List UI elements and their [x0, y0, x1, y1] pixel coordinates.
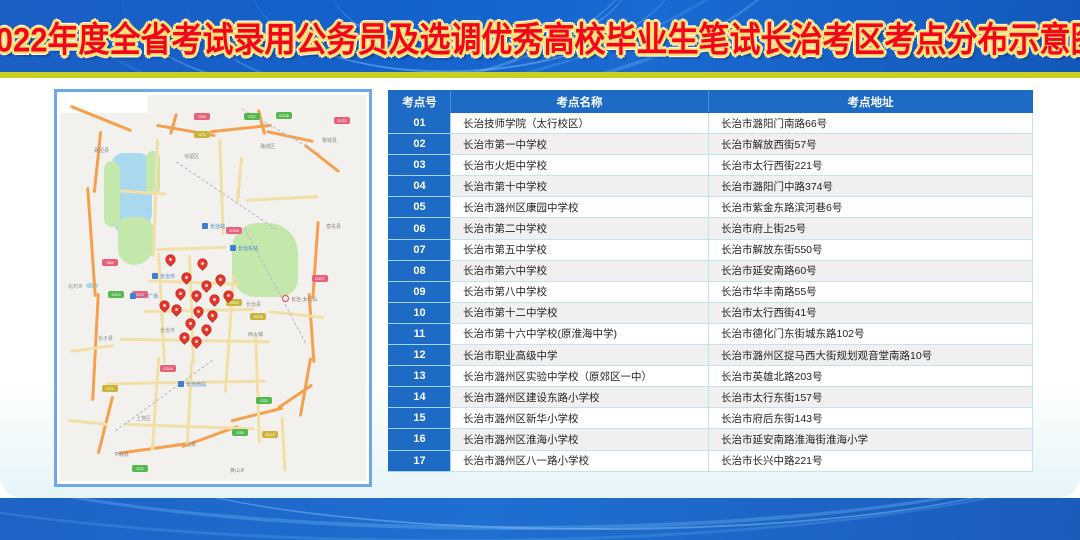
- cell-name: 长治市第十中学校: [451, 176, 709, 197]
- table-row[interactable]: 17长治市潞州区八一路小学校长治市长兴中路221号: [389, 450, 1033, 471]
- map-road: [218, 139, 224, 235]
- table-row[interactable]: 09长治市第八中学校长治市华丰南路55号: [389, 281, 1033, 302]
- map-place-label: 长治县: [246, 301, 261, 308]
- map-marker-pin[interactable]: [196, 257, 209, 270]
- map-marker-pin[interactable]: [208, 293, 221, 306]
- map-road: [156, 246, 226, 251]
- cell-addr: 长治市英雄北路203号: [709, 366, 1033, 387]
- column-header-no: 考点号: [389, 91, 451, 113]
- map-poi-label[interactable]: 长治市: [152, 273, 175, 280]
- map-road: [236, 157, 242, 203]
- table-row[interactable]: 06长治市第二中学校长治市府上街25号: [389, 218, 1033, 239]
- table-body: 01长治技师学院（太行校区）长治市潞阳门南路66号 02长治市第一中学校长治市解…: [389, 113, 1033, 472]
- map-road-shield: G55: [194, 113, 210, 120]
- table-row[interactable]: 05长治市潞州区康园中学校长治市紫金东路滨河巷6号: [389, 197, 1033, 218]
- cell-no: 02: [389, 134, 451, 155]
- table-row[interactable]: 12长治市职业高级中学长治市潞州区捉马西大街规划观音堂南路10号: [389, 345, 1033, 366]
- cell-addr: 长治市府上街25号: [709, 218, 1033, 239]
- map-road-shield: G22: [256, 397, 272, 404]
- cell-addr: 长治市太行西街41号: [709, 302, 1033, 323]
- cell-name: 长治市第五中学校: [451, 239, 709, 260]
- cell-name: 长治市潞州区八一路小学校: [451, 450, 709, 471]
- map-marker-pin[interactable]: [200, 323, 213, 336]
- cell-name: 长治技师学院（太行校区）: [451, 113, 709, 134]
- cell-no: 09: [389, 281, 451, 302]
- cell-no: 05: [389, 197, 451, 218]
- map-railway: [176, 162, 276, 230]
- map-road: [268, 310, 324, 318]
- cell-no: 15: [389, 408, 451, 429]
- cell-addr: 长治市潞州区捉马西大街规划观音堂南路10号: [709, 345, 1033, 366]
- table-row[interactable]: 07长治市第五中学校长治市解放东街550号: [389, 239, 1033, 260]
- table-row[interactable]: 10长治市第十二中学校长治市太行西街41号: [389, 302, 1033, 323]
- exam-site-table: 考点号 考点名称 考点地址 01长治技师学院（太行校区）长治市潞阳门南路66号 …: [388, 90, 1032, 472]
- map-road-shield: G208: [276, 112, 292, 119]
- cell-addr: 长治市太行东街157号: [709, 387, 1033, 408]
- map-place-label: 壶关县: [326, 223, 341, 230]
- cell-name: 长治市潞州区新华小学校: [451, 408, 709, 429]
- cell-addr: 长治市紫金东路滨河巷6号: [709, 197, 1033, 218]
- cell-addr: 长治市长兴中路221号: [709, 450, 1033, 471]
- table-row[interactable]: 03长治市火炬中学校长治市太行西街221号: [389, 155, 1033, 176]
- map-marker-pin[interactable]: [174, 287, 187, 300]
- map-poi-station[interactable]: 长治站: [202, 223, 225, 230]
- map-road-shield: G309: [226, 227, 242, 234]
- map-road: [246, 195, 318, 201]
- cell-no: 12: [389, 345, 451, 366]
- cell-name: 长治市第八中学校: [451, 281, 709, 302]
- map-road-shield: S86: [102, 259, 118, 266]
- cell-no: 17: [389, 450, 451, 471]
- cell-addr: 长治市潞阳门中路374号: [709, 176, 1033, 197]
- cell-no: 11: [389, 323, 451, 344]
- page-title: 2022年度全省考试录用公务员及选调优秀高校毕业生笔试长治考区考点分布示意图: [0, 0, 1080, 72]
- map-poi-scenic[interactable]: 长治 太行山: [282, 295, 317, 303]
- table-header-row: 考点号 考点名称 考点地址: [389, 91, 1033, 113]
- map-frame: G55 S76 G22 G208 S222 G309 S86 G207 S324…: [54, 89, 372, 487]
- table-row[interactable]: 02长治市第一中学校长治市解放西街57号: [389, 134, 1033, 155]
- cell-addr: 长治市太行西街221号: [709, 155, 1033, 176]
- map-road: [148, 279, 240, 285]
- table-row[interactable]: 11长治市第十六中学校(原淮海中学)长治市德化门东街城东路102号: [389, 323, 1033, 344]
- table-row[interactable]: 15长治市潞州区新华小学校长治市府后东街143号: [389, 408, 1033, 429]
- cell-name: 长治市第十二中学校: [451, 302, 709, 323]
- map-road-shield: S76: [194, 131, 210, 138]
- map-place-label: 襄垣县: [94, 147, 109, 154]
- cell-no: 13: [389, 366, 451, 387]
- cell-addr: 长治市延安南路60号: [709, 260, 1033, 281]
- map-place-label: 沁县: [186, 441, 196, 448]
- map-park-area: [104, 161, 120, 227]
- map-poi-station[interactable]: 长治东站: [230, 245, 258, 252]
- footer-band: [0, 498, 1080, 540]
- map-place-label: 平顺县: [114, 451, 129, 458]
- cell-name: 长治市第十六中学校(原淮海中学): [451, 323, 709, 344]
- cell-name: 长治市潞州区淮海小学校: [451, 429, 709, 450]
- cell-name: 长治市火炬中学校: [451, 155, 709, 176]
- map-place-label: 黄山乡: [230, 467, 245, 474]
- map-highway: [86, 187, 97, 297]
- map-place-label: 长子县: [98, 335, 113, 342]
- map-blank-corner: [60, 95, 148, 113]
- map-poi-label[interactable]: 八一广场: [130, 293, 158, 300]
- map-marker-pin[interactable]: [170, 303, 183, 316]
- header-banner: 2022年度全省考试录用公务员及选调优秀高校毕业生笔试长治考区考点分布示意图: [0, 0, 1080, 72]
- map-marker-pin[interactable]: [184, 317, 197, 330]
- cell-no: 04: [389, 176, 451, 197]
- cell-addr: 长治市府后东街143号: [709, 408, 1033, 429]
- content-card: G55 S76 G22 G208 S222 G309 S86 G207 S324…: [0, 78, 1080, 498]
- cell-no: 14: [389, 387, 451, 408]
- map-road-shield: G22: [132, 465, 148, 472]
- map-road-shield: S225: [262, 431, 278, 438]
- table-row[interactable]: 01长治技师学院（太行校区）长治市潞阳门南路66号: [389, 113, 1033, 134]
- cell-addr: 长治市解放西街57号: [709, 134, 1033, 155]
- cell-no: 16: [389, 429, 451, 450]
- map-highway: [277, 384, 313, 410]
- cell-name: 长治市潞州区康园中学校: [451, 197, 709, 218]
- map-road-shield: S222: [334, 117, 350, 124]
- table-row[interactable]: 14长治市潞州区建设东路小学校长治市太行东街157号: [389, 387, 1033, 408]
- cell-name: 长治市第一中学校: [451, 134, 709, 155]
- map-highway: [311, 221, 319, 299]
- column-header-name: 考点名称: [451, 91, 709, 113]
- map-road-shield: G55: [232, 429, 248, 436]
- map-poi-station[interactable]: 长治南站: [178, 381, 206, 388]
- map-place-label: 黎城县: [322, 137, 337, 144]
- cell-name: 长治市职业高级中学: [451, 345, 709, 366]
- cell-name: 长治市第二中学校: [451, 218, 709, 239]
- table-row[interactable]: 04长治市第十中学校长治市潞阳门中路374号: [389, 176, 1033, 197]
- map-marker-pin[interactable]: [178, 331, 191, 344]
- map-road: [70, 344, 114, 353]
- cell-no: 08: [389, 260, 451, 281]
- map-highway: [308, 293, 316, 363]
- cell-name: 长治市潞州区实验中学校（原郊区一中）: [451, 366, 709, 387]
- cell-no: 10: [389, 302, 451, 323]
- cell-addr: 长治市潞阳门南路66号: [709, 113, 1033, 134]
- map-road: [281, 417, 286, 471]
- cell-addr: 长治市德化门东街城东路102号: [709, 323, 1033, 344]
- map-park-area: [118, 217, 154, 265]
- map-highway: [93, 131, 102, 193]
- table-row[interactable]: 08长治市第六中学校长治市延安南路60号: [389, 260, 1033, 281]
- map-road-shield: G207: [312, 275, 328, 282]
- map-road-shield: G309: [160, 365, 176, 372]
- poster-page: 2022年度全省考试录用公务员及选调优秀高校毕业生笔试长治考区考点分布示意图: [0, 0, 1080, 540]
- map-place-label: 上党区: [136, 415, 151, 422]
- map-place-label: 北村乡: [68, 283, 83, 290]
- table-row[interactable]: 16长治市潞州区淮海小学校长治市延安南路淮海街淮海小学: [389, 429, 1033, 450]
- map-road-shield: S324: [108, 291, 124, 298]
- cell-addr: 长治市华丰南路55号: [709, 281, 1033, 302]
- map-road-shield: S76: [102, 385, 118, 392]
- cell-name: 长治市潞州区建设东路小学校: [451, 387, 709, 408]
- map-road: [68, 419, 108, 426]
- map-road-shield: S225: [250, 313, 266, 320]
- cell-no: 06: [389, 218, 451, 239]
- map-place-label: 西火镇: [248, 331, 263, 338]
- map-place-label: 潞城区: [260, 143, 275, 150]
- cell-no: 07: [389, 239, 451, 260]
- cell-name: 长治市第六中学校: [451, 260, 709, 281]
- map-road-shield: G22: [244, 113, 260, 120]
- table-row[interactable]: 13长治市潞州区实验中学校（原郊区一中）长治市英雄北路203号: [389, 366, 1033, 387]
- cell-addr: 长治市延安南路淮海街淮海小学: [709, 429, 1033, 450]
- cell-no: 03: [389, 155, 451, 176]
- map-park-area: [232, 223, 298, 297]
- map-marker-pin[interactable]: [164, 253, 177, 266]
- map-place-label: 屯留区: [184, 153, 199, 160]
- cell-no: 01: [389, 113, 451, 134]
- map-marker-pin[interactable]: [192, 305, 205, 318]
- cell-addr: 长治市解放东街550号: [709, 239, 1033, 260]
- map-place-label: 长治市: [160, 327, 175, 334]
- map-highway: [169, 113, 178, 135]
- map-canvas[interactable]: G55 S76 G22 G208 S222 G309 S86 G207 S324…: [60, 95, 366, 481]
- map-road: [254, 333, 260, 443]
- column-header-addr: 考点地址: [709, 91, 1033, 113]
